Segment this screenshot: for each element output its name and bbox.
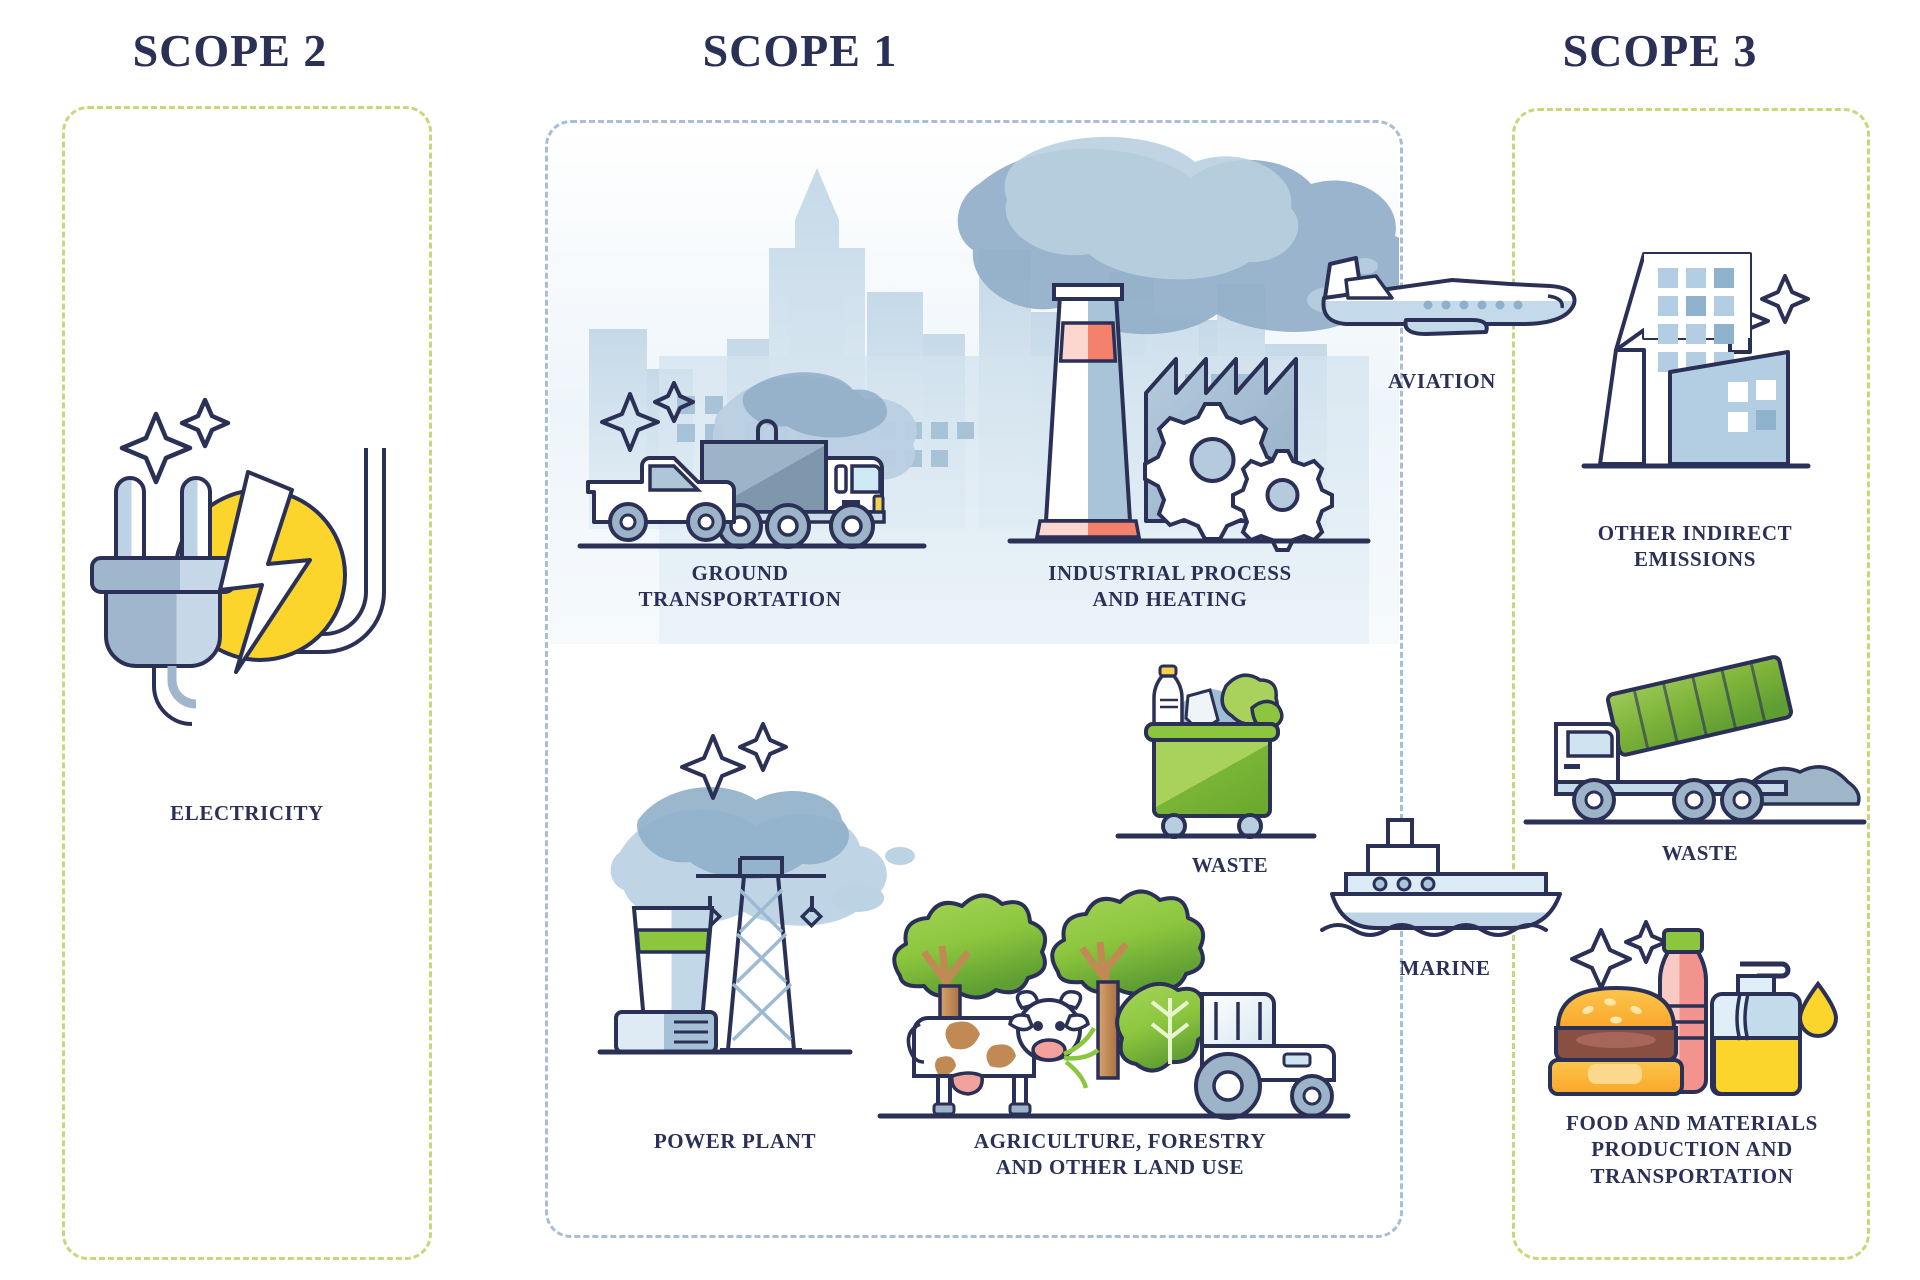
cow-icon [908, 992, 1098, 1114]
infographic-canvas: SCOPE 2 SCOPE 1 SCOPE 3 [0, 0, 1920, 1280]
caption-power-plant: POWER PLANT [570, 1128, 900, 1154]
burger-icon [1550, 988, 1682, 1094]
sparkle-icon [1572, 922, 1666, 988]
sparkle-icon [122, 400, 228, 482]
tractor-icon [1196, 994, 1334, 1118]
other-indirect-illustration [1560, 230, 1860, 530]
caption-food-materials: FOOD AND MATERIALS PRODUCTION AND TRANSP… [1514, 1110, 1870, 1189]
waste-scope3-illustration [1534, 660, 1864, 840]
caption-other-indirect: OTHER INDIRECT EMISSIONS [1530, 520, 1860, 573]
dump-bed [1607, 656, 1792, 756]
caption-agriculture: AGRICULTURE, FORESTRY AND OTHER LAND USE [900, 1128, 1340, 1181]
sparkle-icon [682, 724, 786, 798]
smokestack [1037, 285, 1139, 537]
dumpster-body [1154, 740, 1270, 816]
scope-3-title: SCOPE 3 [1450, 24, 1870, 77]
cooling-tower [616, 908, 716, 1052]
caption-ground-transportation: GROUND TRANSPORTATION [580, 560, 900, 613]
gear-icon-small [1233, 451, 1332, 550]
caption-electricity: ELECTRICITY [62, 800, 432, 826]
liquid-drop-icon [1800, 984, 1836, 1036]
ship-hull [1332, 894, 1560, 928]
crop-bush [1117, 984, 1210, 1071]
caption-marine: MARINE [1330, 955, 1560, 981]
aviation-illustration [1310, 250, 1580, 370]
marine-illustration [1320, 810, 1580, 950]
caption-industrial-process: INDUSTRIAL PROCESS AND HEATING [960, 560, 1380, 613]
dumpster-lid [1146, 724, 1278, 740]
scope-1-title: SCOPE 1 [560, 24, 1040, 77]
electricity-illustration [70, 380, 400, 710]
scope-2-title: SCOPE 2 [60, 24, 400, 77]
ground-transportation-illustration [580, 380, 970, 560]
waste-scope1-illustration [1138, 660, 1328, 850]
sparkle-icon [602, 383, 693, 450]
agriculture-illustration [880, 890, 1350, 1140]
wide-building [1670, 352, 1788, 464]
soap-dispenser [1712, 964, 1800, 1094]
caption-waste-scope3: WASTE [1560, 840, 1840, 866]
truck-wheels [719, 505, 873, 547]
plane-wing [1405, 320, 1486, 334]
caption-aviation: AVIATION [1322, 368, 1562, 394]
